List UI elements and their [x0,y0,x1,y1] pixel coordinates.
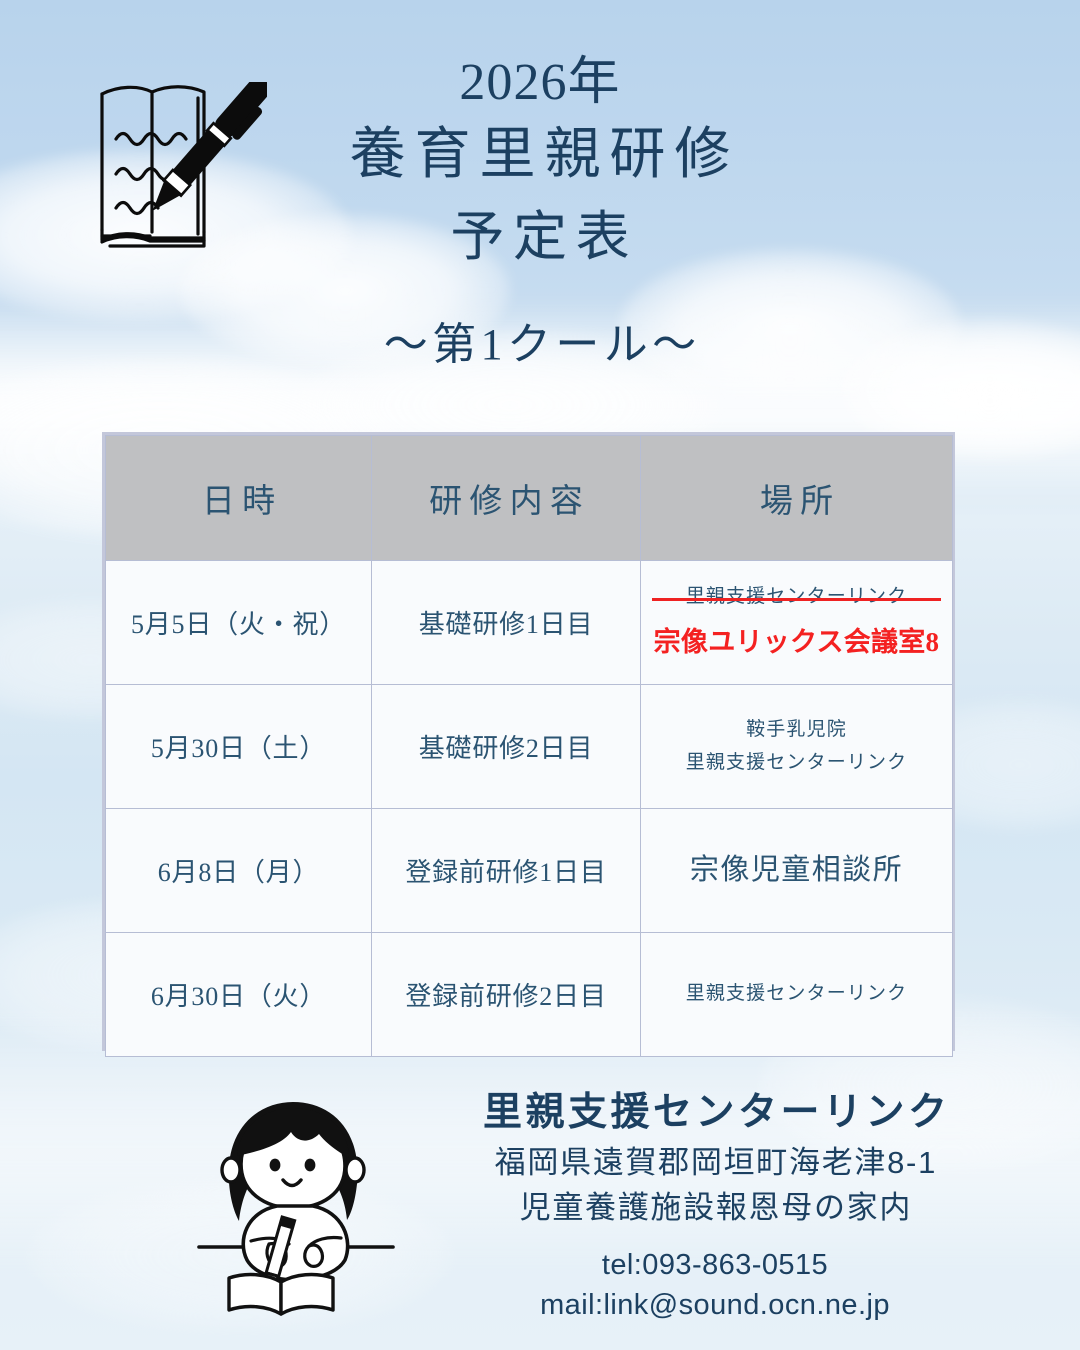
poster-title-block: 2026年 養育里親研修 予定表 〜第1クール〜 [0,52,1080,372]
title-course-label: 〜第1クール〜 [0,308,1080,372]
cell-place: 里親支援センターリンク 宗像ユリックス会議室8 [641,561,953,685]
schedule-table-container: 日時 研修内容 場所 5月5日（火・祝） 基礎研修1日目 里親支援センターリンク… [102,432,955,1051]
cell-topic: 基礎研修2日目 [372,685,641,809]
cell-date: 5月5日（火・祝） [106,561,372,685]
table-row: 6月30日（火） 登録前研修2日目 里親支援センターリンク [106,933,953,1057]
column-header-topic: 研修内容 [372,436,641,561]
cell-topic: 登録前研修2日目 [372,933,641,1057]
cell-place: 鞍手乳児院 里親支援センターリンク [641,685,953,809]
organization-telephone[interactable]: tel:093-863-0515 [390,1245,1040,1285]
table-row: 5月5日（火・祝） 基礎研修1日目 里親支援センターリンク 宗像ユリックス会議室… [106,561,953,685]
table-row: 5月30日（土） 基礎研修2日目 鞍手乳児院 里親支援センターリンク [106,685,953,809]
cell-topic: 登録前研修1日目 [372,809,641,933]
column-header-date: 日時 [106,436,372,561]
cell-topic: 基礎研修1日目 [372,561,641,685]
schedule-table: 日時 研修内容 場所 5月5日（火・祝） 基礎研修1日目 里親支援センターリンク… [105,435,953,1057]
column-header-place: 場所 [641,436,953,561]
organization-name: 里親支援センターリンク [390,1088,1040,1139]
organization-address-line2: 児童養護施設報恩母の家内 [390,1188,1040,1229]
place-struck-text: 里親支援センターリンク [686,583,908,612]
place-line: 宗像児童相談所 [690,849,903,893]
table-header-row: 日時 研修内容 場所 [106,436,953,561]
cell-date: 5月30日（土） [106,685,372,809]
place-updated-text: 宗像ユリックス会議室8 [654,622,940,663]
cell-place: 宗像児童相談所 [641,809,953,933]
title-main: 養育里親研修 [0,113,1080,197]
cell-date: 6月30日（火） [106,933,372,1057]
title-year: 2026年 [0,52,1080,113]
cell-date: 6月8日（月） [106,809,372,933]
organization-address-line1: 福岡県遠賀郡岡垣町海老津8-1 [390,1143,1040,1184]
organization-email[interactable]: mail:link@sound.ocn.ne.jp [390,1285,1040,1325]
cell-place: 里親支援センターリンク [641,933,953,1057]
girl-writing-icon [185,1090,400,1318]
table-row: 6月8日（月） 登録前研修1日目 宗像児童相談所 [106,809,953,933]
title-subtitle: 予定表 [0,197,1080,278]
place-line: 里親支援センターリンク [686,749,908,778]
place-line: 里親支援センターリンク [686,980,908,1009]
poster-root: 2026年 養育里親研修 予定表 〜第1クール〜 日時 研修内容 場所 [0,0,1080,1350]
place-line: 鞍手乳児院 [746,716,847,745]
footer-contact-block: 里親支援センターリンク 福岡県遠賀郡岡垣町海老津8-1 児童養護施設報恩母の家内… [390,1088,1040,1325]
